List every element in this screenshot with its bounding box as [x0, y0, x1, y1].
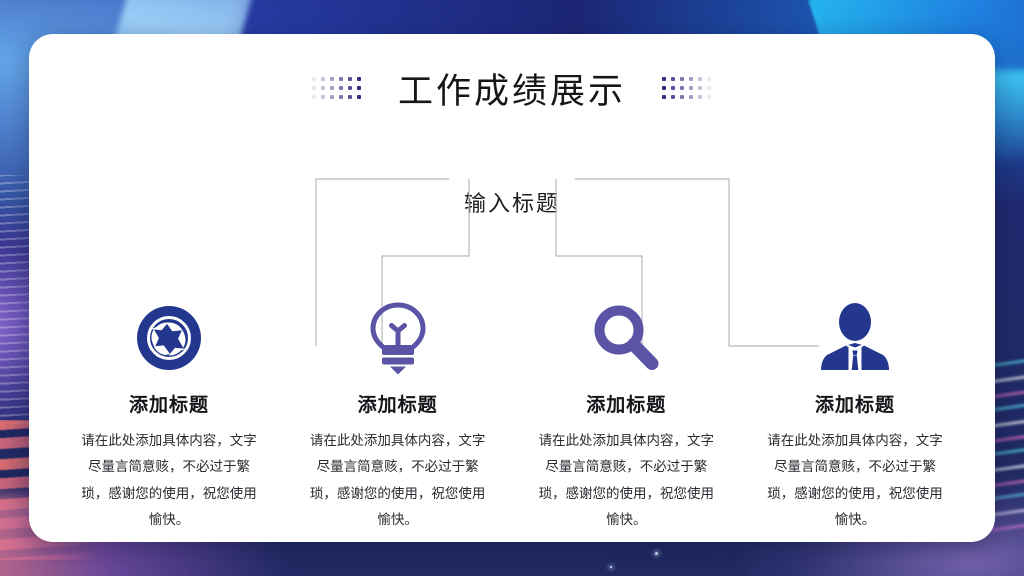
dot-matrix-dot: [662, 95, 666, 99]
dot-matrix-dot: [707, 95, 711, 99]
column-2-body: 请在此处添加具体内容，文字尽量言简意赅，不必过于繁琐，感谢您的使用，祝您使用愉快…: [305, 428, 491, 533]
dot-matrix-dot: [339, 95, 343, 99]
lightbulb-icon: [367, 301, 429, 375]
column-3[interactable]: 添加标题 请在此处添加具体内容，文字尽量言简意赅，不必过于繁琐，感谢您的使用，祝…: [516, 292, 736, 533]
dot-matrix-dot: [662, 86, 666, 90]
dot-matrix-dot: [330, 86, 334, 90]
dot-matrix-dot: [680, 95, 684, 99]
page-title: 工作成绩展示: [398, 63, 626, 114]
dot-matrix-dot: [348, 95, 352, 99]
dot-matrix-dot: [671, 95, 675, 99]
dot-matrix-dot: [339, 77, 343, 81]
column-4-title: 添加标题: [815, 390, 895, 417]
column-2-icon-wrap: [367, 292, 429, 384]
column-1-body: 请在此处添加具体内容，文字尽量言简意赅，不必过于繁琐，感谢您的使用，祝您使用愉快…: [76, 428, 262, 533]
content-card: 工作成绩展示 输入标题: [29, 34, 995, 542]
dot-matrix-dot: [689, 77, 693, 81]
dot-matrix-dot: [321, 77, 325, 81]
dot-matrix-dot: [348, 77, 352, 81]
slide-root: 工作成绩展示 输入标题: [0, 0, 1024, 576]
dot-matrix-dot: [689, 95, 693, 99]
dot-matrix-right-icon: [660, 75, 714, 102]
dot-matrix-left-icon: [310, 75, 364, 102]
dot-matrix-dot: [312, 86, 316, 90]
dot-matrix-dot: [707, 86, 711, 90]
dot-matrix-dot: [321, 95, 325, 99]
dot-matrix-dot: [671, 77, 675, 81]
column-4-icon-wrap: [819, 292, 891, 384]
dot-matrix-dot: [662, 77, 666, 81]
dot-matrix-dot: [698, 86, 702, 90]
column-2-title: 添加标题: [358, 390, 438, 417]
businessman-icon: [819, 302, 891, 374]
dot-matrix-dot: [339, 86, 343, 90]
columns-container: 添加标题 请在此处添加具体内容，文字尽量言简意赅，不必过于繁琐，感谢您的使用，祝…: [59, 292, 965, 533]
column-3-body: 请在此处添加具体内容，文字尽量言简意赅，不必过于繁琐，感谢您的使用，祝您使用愉快…: [533, 428, 719, 533]
dot-matrix-dot: [348, 86, 352, 90]
dot-matrix-dot: [357, 95, 361, 99]
column-1[interactable]: 添加标题 请在此处添加具体内容，文字尽量言简意赅，不必过于繁琐，感谢您的使用，祝…: [59, 292, 279, 533]
slide-header: 工作成绩展示: [29, 60, 995, 116]
dot-matrix-dot: [321, 86, 325, 90]
column-3-title: 添加标题: [586, 390, 666, 417]
column-4-body: 请在此处添加具体内容，文字尽量言简意赅，不必过于繁琐，感谢您的使用，祝您使用愉快…: [762, 428, 948, 533]
column-2[interactable]: 添加标题 请在此处添加具体内容，文字尽量言简意赅，不必过于繁琐，感谢您的使用，祝…: [288, 292, 508, 533]
magnifier-icon: [590, 302, 662, 374]
dot-matrix-dot: [698, 77, 702, 81]
dot-matrix-dot: [330, 77, 334, 81]
dot-matrix-dot: [707, 77, 711, 81]
dot-matrix-dot: [698, 95, 702, 99]
dot-matrix-dot: [680, 77, 684, 81]
dot-matrix-dot: [680, 86, 684, 90]
dot-matrix-dot: [357, 77, 361, 81]
dot-matrix-dot: [312, 95, 316, 99]
camera-aperture-icon: [135, 304, 203, 372]
center-label: 输入标题: [29, 186, 995, 218]
dot-matrix-dot: [330, 95, 334, 99]
dot-matrix-dot: [357, 86, 361, 90]
dot-matrix-dot: [312, 77, 316, 81]
dot-matrix-dot: [671, 86, 675, 90]
column-1-icon-wrap: [135, 292, 203, 384]
background-sparkle: [610, 566, 612, 568]
background-sparkle: [655, 552, 658, 555]
column-1-title: 添加标题: [129, 390, 209, 417]
dot-matrix-dot: [689, 86, 693, 90]
column-4[interactable]: 添加标题 请在此处添加具体内容，文字尽量言简意赅，不必过于繁琐，感谢您的使用，祝…: [745, 292, 965, 533]
column-3-icon-wrap: [590, 292, 662, 384]
